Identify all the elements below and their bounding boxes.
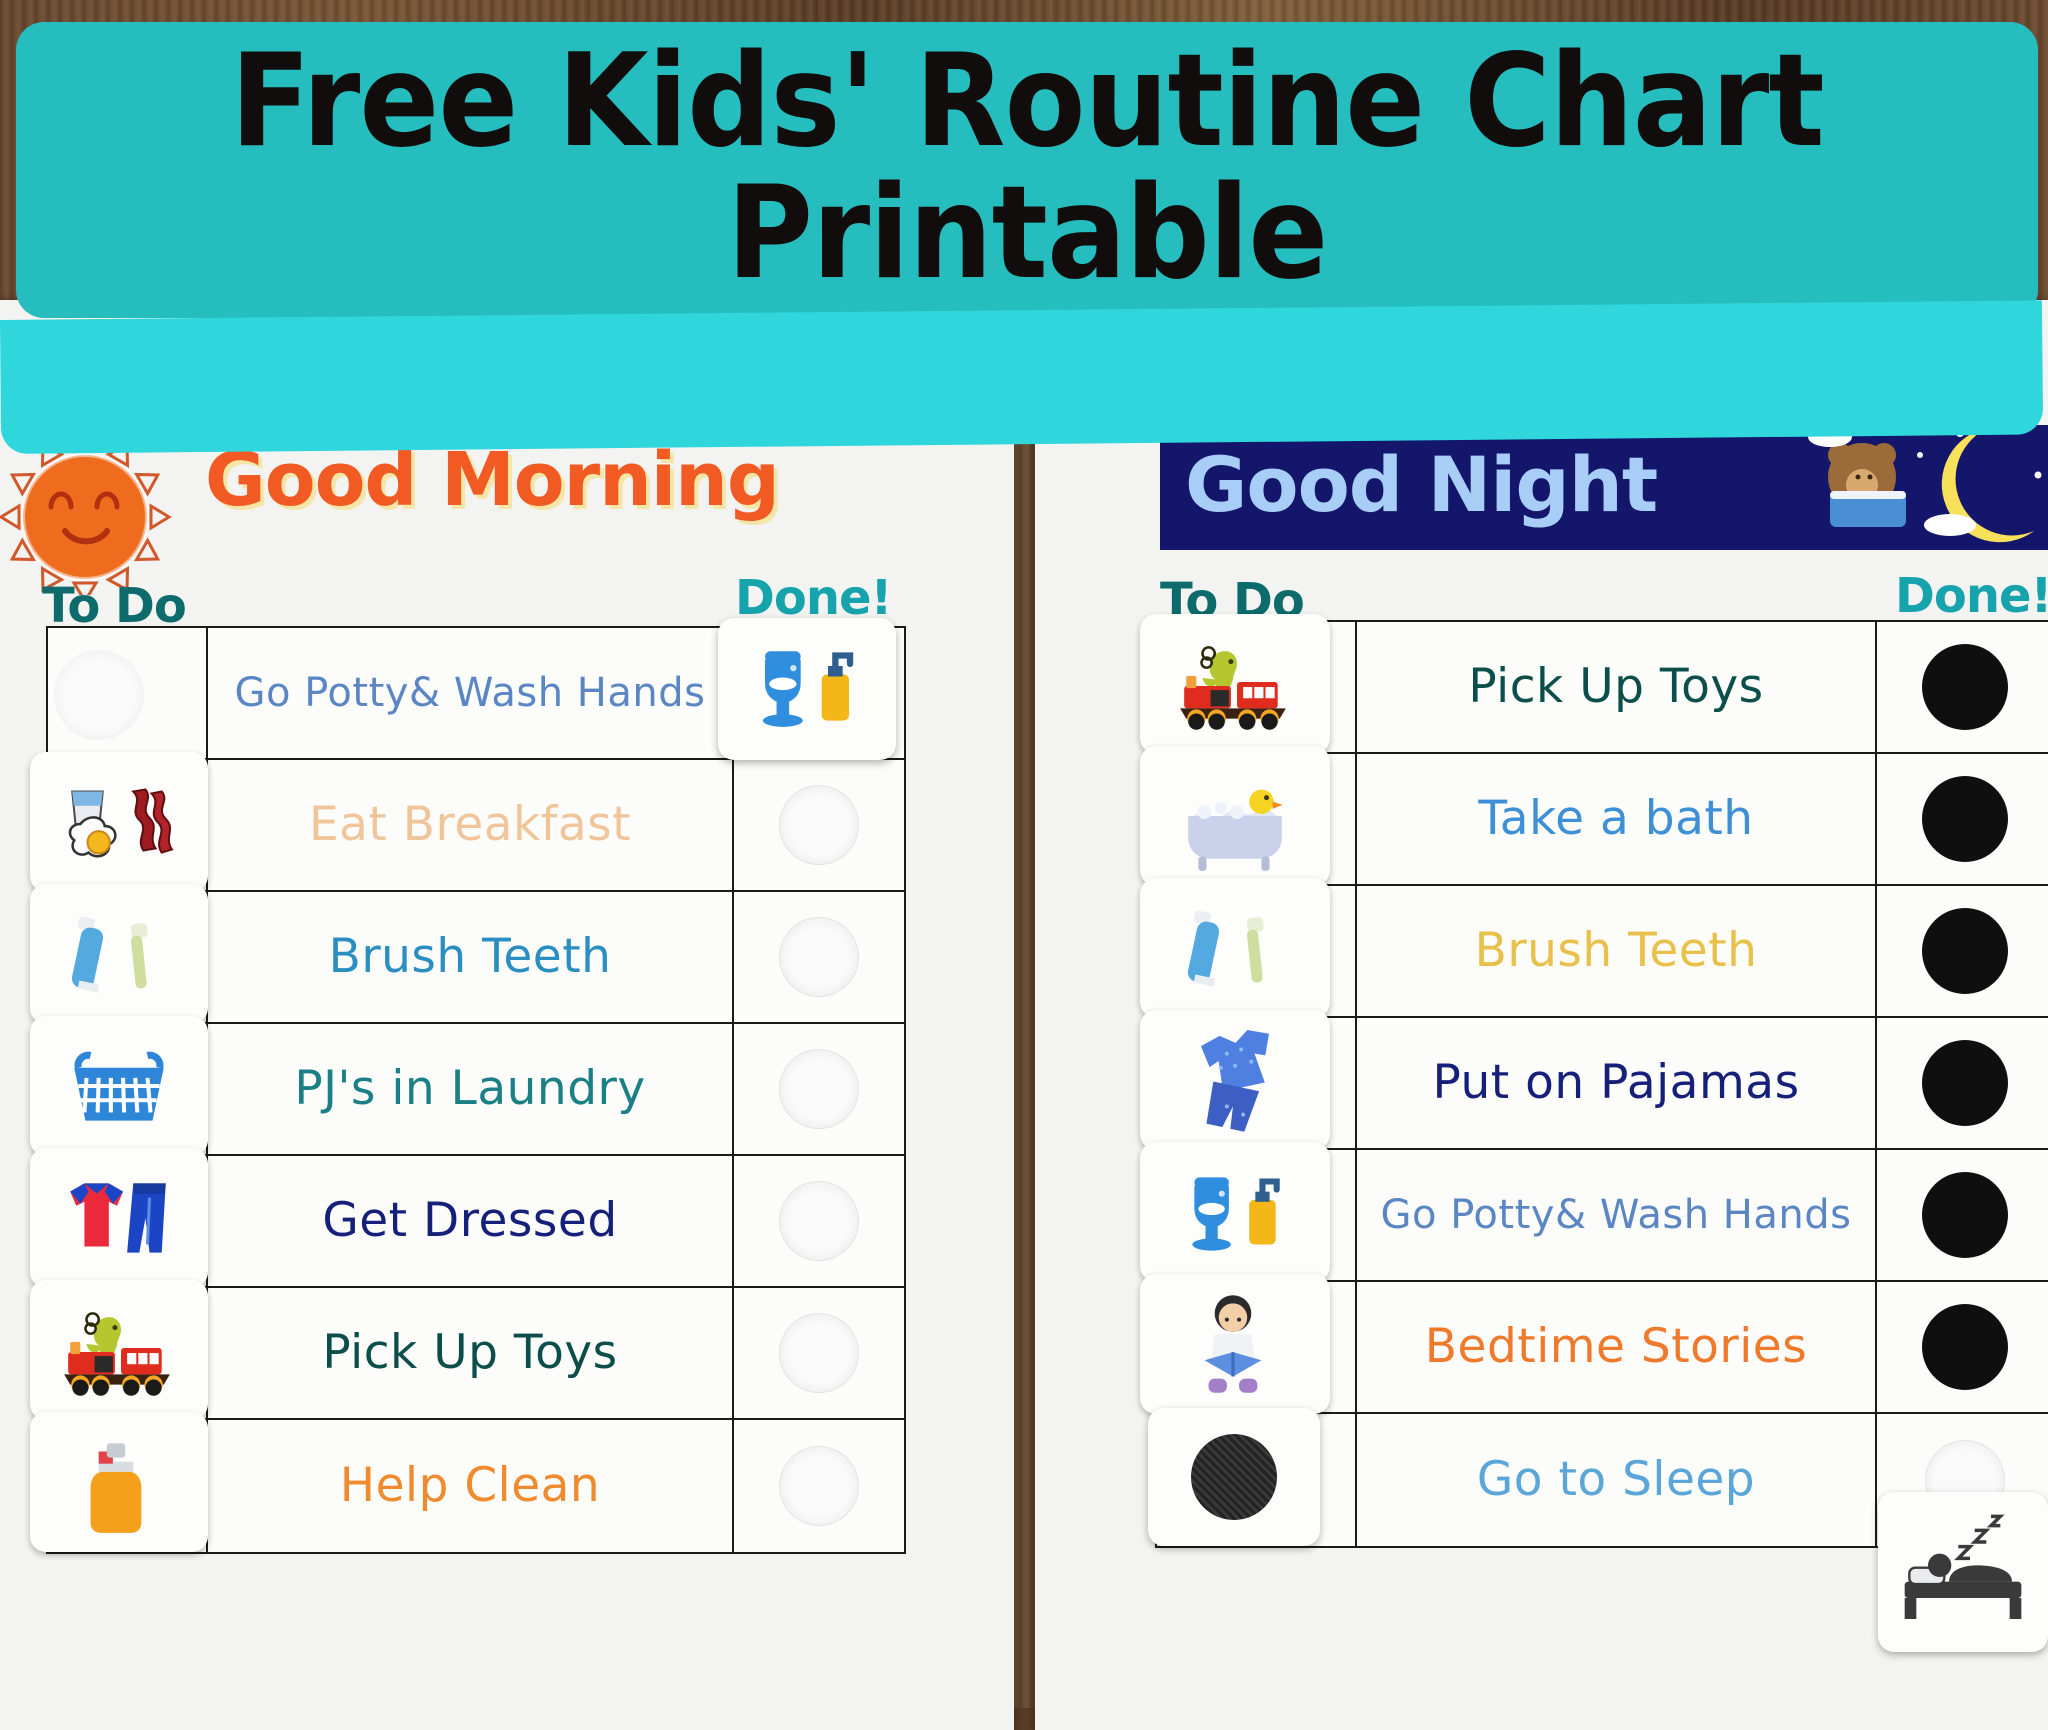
title-banner-background	[16, 22, 2038, 318]
done-marker-filled[interactable]	[1922, 776, 2008, 862]
night-picture-card-6[interactable]	[1148, 1408, 1320, 1546]
night-task-label: Pick Up Toys	[1357, 622, 1875, 752]
morning-done-cell[interactable]	[732, 760, 904, 890]
morning-done-cell[interactable]	[732, 1420, 904, 1552]
night-task-label: Take a bath	[1357, 754, 1875, 884]
potty-and-soap-icon	[1174, 1151, 1296, 1273]
night-done-cell[interactable]	[1875, 1282, 2048, 1412]
night-task-label: Put on Pajamas	[1357, 1018, 1875, 1148]
morning-done-cell[interactable]	[732, 1288, 904, 1418]
night-task-label: Brush Teeth	[1357, 886, 1875, 1016]
night-done-overlay-card-sleep[interactable]	[1878, 1492, 2048, 1652]
laundry-basket-icon	[58, 1025, 180, 1147]
morning-task-label: Go Potty& Wash Hands	[208, 628, 732, 758]
done-marker-filled[interactable]	[1922, 1172, 2008, 1258]
done-marker-empty[interactable]	[779, 1049, 859, 1129]
morning-task-label: Get Dressed	[208, 1156, 732, 1286]
morning-picture-card-2[interactable]	[30, 884, 208, 1024]
dinosaur-train-icon	[1174, 623, 1296, 745]
morning-picture-card-6[interactable]	[30, 1412, 208, 1552]
morning-task-label: Eat Breakfast	[208, 760, 732, 890]
pajamas-icon	[1174, 1019, 1296, 1141]
morning-picture-card-3[interactable]	[30, 1016, 208, 1156]
night-done-cell[interactable]	[1875, 754, 2048, 884]
morning-task-label: Help Clean	[208, 1420, 732, 1552]
toothpaste-toothbrush-icon	[58, 893, 180, 1015]
title-banner-strip	[0, 300, 2043, 454]
morning-done-cell[interactable]	[732, 1156, 904, 1286]
hatched-dot-icon	[1191, 1434, 1277, 1520]
done-marker-filled[interactable]	[1922, 908, 2008, 994]
bathtub-with-duck-icon	[1174, 755, 1296, 877]
night-picture-card-5[interactable]	[1140, 1274, 1330, 1414]
morning-done-cell[interactable]	[732, 1024, 904, 1154]
night-section-title: Good Night	[1185, 440, 1657, 529]
done-marker-empty[interactable]	[779, 1313, 859, 1393]
person-sleeping-in-bed-icon	[1893, 1500, 2033, 1645]
morning-picture-card-5[interactable]	[30, 1280, 208, 1420]
done-marker-filled[interactable]	[1922, 644, 2008, 730]
night-done-cell[interactable]	[1875, 886, 2048, 1016]
dinosaur-train-icon	[58, 1289, 180, 1411]
night-picture-card-2[interactable]	[1140, 878, 1330, 1018]
morning-task-label: Pick Up Toys	[208, 1288, 732, 1418]
night-task-label: Bedtime Stories	[1357, 1282, 1875, 1412]
morning-column-header-todo: To Do	[42, 578, 186, 634]
done-marker-filled[interactable]	[1922, 1040, 2008, 1126]
done-marker-empty[interactable]	[779, 1446, 859, 1526]
night-column-header-done: Done!	[1895, 568, 2048, 624]
done-marker-filled[interactable]	[1922, 1304, 2008, 1390]
potty-and-soap-icon	[744, 624, 870, 755]
morning-done-cell[interactable]	[732, 892, 904, 1022]
toothpaste-toothbrush-icon	[1174, 887, 1296, 1009]
spray-bottle-icon	[58, 1421, 180, 1543]
child-reading-book-icon	[1174, 1283, 1296, 1405]
breakfast-eggs-bacon-milk-icon	[58, 761, 180, 883]
night-picture-card-4[interactable]	[1140, 1142, 1330, 1282]
night-task-label: Go to Sleep	[1357, 1414, 1875, 1546]
morning-picture-card-1[interactable]	[30, 752, 208, 892]
done-marker-empty[interactable]	[779, 917, 859, 997]
morning-picture-card-4[interactable]	[30, 1148, 208, 1288]
night-picture-card-0[interactable]	[1140, 614, 1330, 754]
night-picture-card-3[interactable]	[1140, 1010, 1330, 1150]
night-done-cell[interactable]	[1875, 1018, 2048, 1148]
night-task-label: Go Potty& Wash Hands	[1357, 1150, 1875, 1280]
night-picture-card-1[interactable]	[1140, 746, 1330, 886]
morning-task-label: Brush Teeth	[208, 892, 732, 1022]
morning-done-overlay-card-potty[interactable]	[718, 618, 896, 760]
done-marker-empty[interactable]	[779, 1181, 859, 1261]
morning-task-label: PJ's in Laundry	[208, 1024, 732, 1154]
night-done-cell[interactable]	[1875, 622, 2048, 752]
morning-picture-card-0-empty[interactable]	[54, 650, 144, 740]
night-done-cell[interactable]	[1875, 1150, 2048, 1280]
done-marker-empty[interactable]	[779, 785, 859, 865]
shirt-and-pants-icon	[58, 1157, 180, 1279]
